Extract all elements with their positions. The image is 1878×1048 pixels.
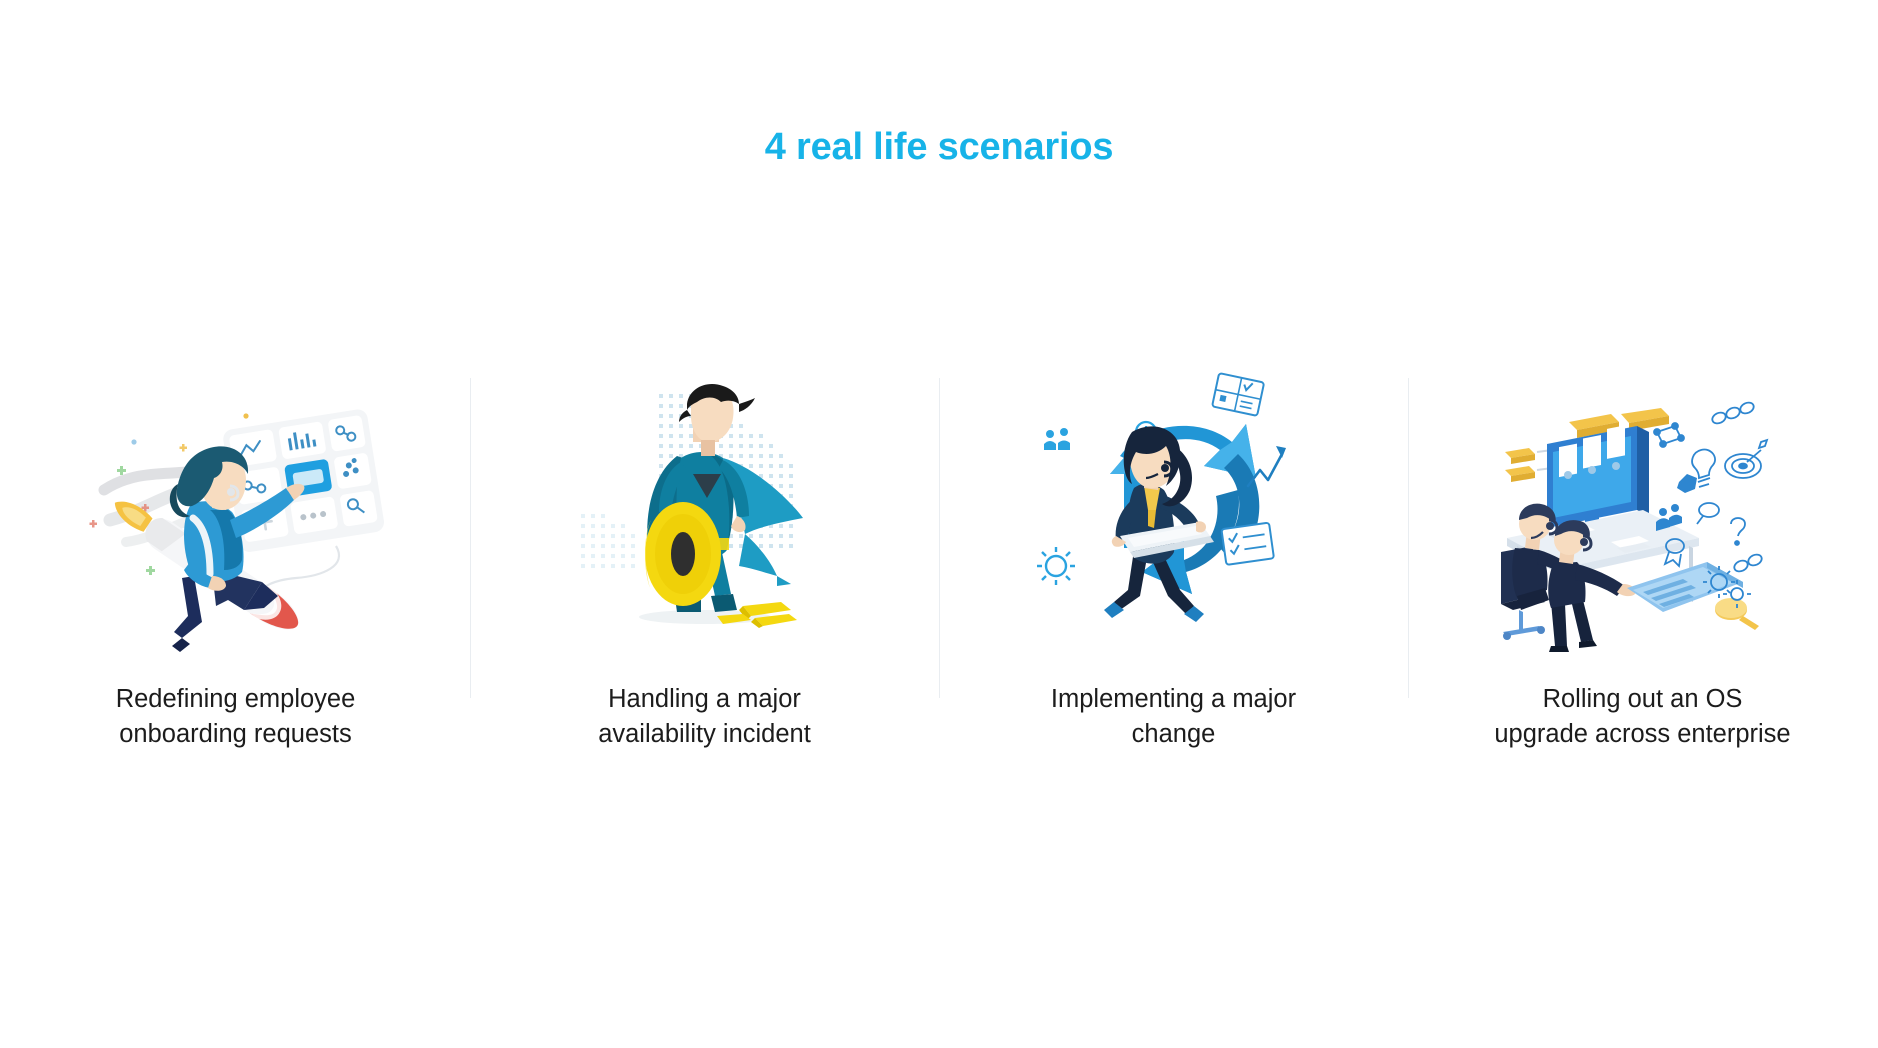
page-title: 4 real life scenarios (0, 126, 1878, 169)
isometric-os-rollout-workstation-icon (1493, 370, 1793, 660)
scenario-caption: Redefining employee onboarding requests (86, 682, 386, 752)
woman-riding-rocket-with-dashboard-icon (86, 370, 386, 660)
scenario-caption: Rolling out an OS upgrade across enterpr… (1493, 682, 1793, 752)
scenario-card-availability[interactable]: Handling a major availability incident (470, 370, 939, 752)
scenario-card-change[interactable]: Implementing a major change (939, 370, 1408, 752)
scenario-caption: Implementing a major change (1024, 682, 1324, 752)
superhero-with-shield-icon (555, 370, 855, 660)
scenario-card-os-upgrade[interactable]: Rolling out an OS upgrade across enterpr… (1408, 370, 1877, 752)
change-cycle-arrows-with-person-icon (1024, 370, 1324, 660)
scenario-caption: Handling a major availability incident (555, 682, 855, 752)
scenario-card-onboarding[interactable]: Redefining employee onboarding requests (1, 370, 470, 752)
scenario-card-list: Redefining employee onboarding requests (0, 370, 1878, 752)
slide-root: 4 real life scenarios (0, 0, 1878, 1048)
